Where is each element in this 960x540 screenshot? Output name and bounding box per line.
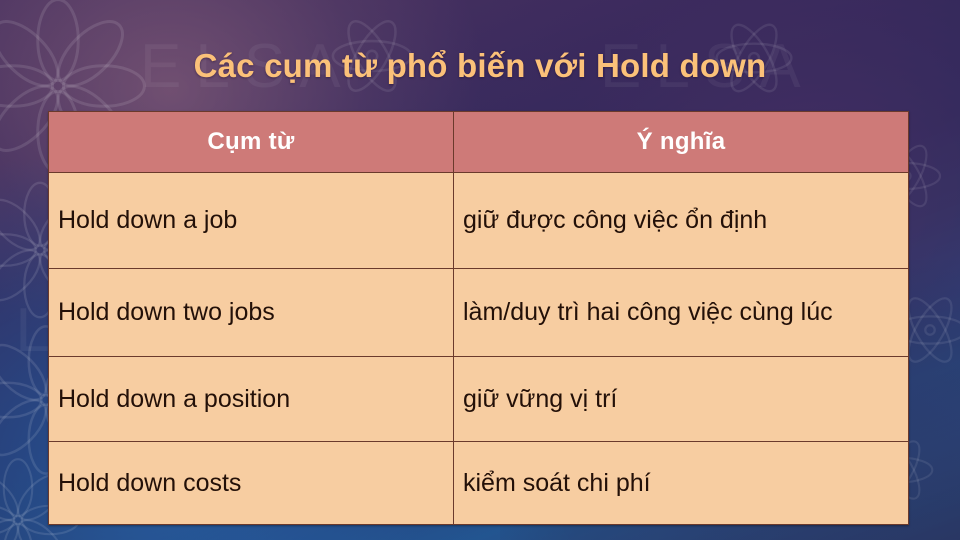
table-header: Cụm từ Ý nghĩa <box>49 112 909 173</box>
column-header-meaning: Ý nghĩa <box>454 112 909 173</box>
cell-meaning-text: giữ được công việc ổn định <box>454 200 908 241</box>
cell-meaning-text: giữ vững vị trí <box>454 379 908 420</box>
column-header-phrase: Cụm từ <box>49 112 454 173</box>
cell-phrase: Hold down a job <box>49 173 454 269</box>
cell-phrase-text: Hold down a job <box>49 200 453 241</box>
cell-meaning: giữ vững vị trí <box>454 357 909 442</box>
cell-phrase-text: Hold down two jobs <box>49 292 453 333</box>
cell-phrase: Hold down costs <box>49 442 454 525</box>
cell-phrase-text: Hold down costs <box>49 463 453 504</box>
table-row: Hold down a position giữ vững vị trí <box>49 357 909 442</box>
slide-canvas: ELSA ELSA ELSA ELSA ELSA ELSA Các cụm từ… <box>0 0 960 540</box>
table-header-row: Cụm từ Ý nghĩa <box>49 112 909 173</box>
cell-meaning: làm/duy trì hai công việc cùng lúc <box>454 269 909 357</box>
cell-phrase: Hold down a position <box>49 357 454 442</box>
table-row: Hold down costs kiểm soát chi phí <box>49 442 909 525</box>
phrases-table: Cụm từ Ý nghĩa Hold down a job giữ được … <box>48 111 909 525</box>
page-title: Các cụm từ phổ biến với Hold down <box>0 46 960 86</box>
table-row: Hold down two jobs làm/duy trì hai công … <box>49 269 909 357</box>
cell-phrase: Hold down two jobs <box>49 269 454 357</box>
table-body: Hold down a job giữ được công việc ổn đị… <box>49 173 909 525</box>
table-row: Hold down a job giữ được công việc ổn đị… <box>49 173 909 269</box>
cell-phrase-text: Hold down a position <box>49 379 453 420</box>
cell-meaning: giữ được công việc ổn định <box>454 173 909 269</box>
cell-meaning-text: làm/duy trì hai công việc cùng lúc <box>454 292 908 333</box>
cell-meaning: kiểm soát chi phí <box>454 442 909 525</box>
cell-meaning-text: kiểm soát chi phí <box>454 463 908 504</box>
